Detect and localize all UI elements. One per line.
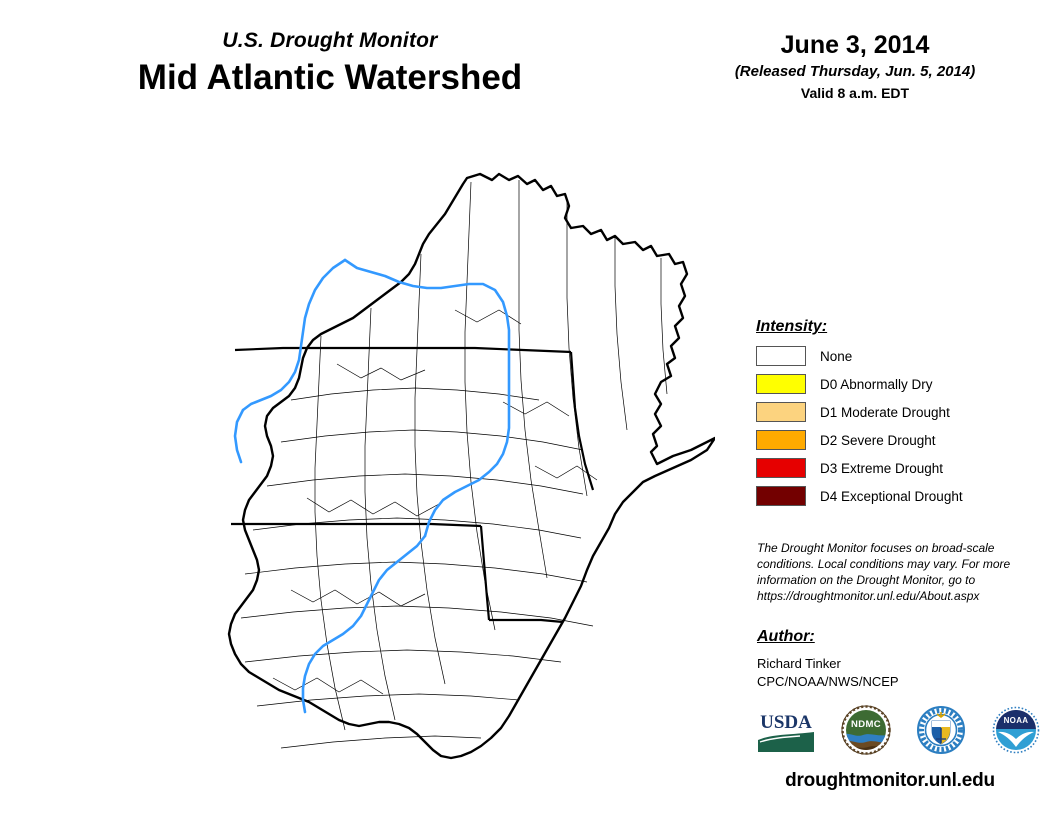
legend-swatch-d3 bbox=[756, 458, 806, 478]
date-block: June 3, 2014 (Released Thursday, Jun. 5,… bbox=[690, 30, 1020, 103]
svg-text:NDMC: NDMC bbox=[851, 719, 881, 730]
author-name: Richard Tinker bbox=[757, 655, 1042, 673]
legend-title: Intensity: bbox=[756, 318, 1036, 336]
noaa-logo: NOAA bbox=[991, 705, 1041, 760]
site-url: droughtmonitor.unl.edu bbox=[740, 770, 1040, 792]
legend-swatch-d1 bbox=[756, 402, 806, 422]
legend-item-d4: D4 Exceptional Drought bbox=[756, 484, 1036, 508]
drought-monitor-page: U.S. Drought Monitor Mid Atlantic Waters… bbox=[0, 0, 1056, 816]
svg-text:NOAA: NOAA bbox=[1004, 716, 1029, 725]
legend-item-none: None bbox=[756, 344, 1036, 368]
author-block: Author: Richard Tinker CPC/NOAA/NWS/NCEP bbox=[757, 628, 1042, 691]
legend-label-d4: D4 Exceptional Drought bbox=[820, 489, 963, 504]
ndmc-logo: NDMC bbox=[841, 705, 891, 760]
page-title: Mid Atlantic Watershed bbox=[0, 56, 660, 100]
map-land-layer bbox=[229, 174, 715, 758]
svg-text:USDA: USDA bbox=[760, 712, 812, 733]
legend-label-d0: D0 Abnormally Dry bbox=[820, 377, 933, 392]
valid-time: Valid 8 a.m. EDT bbox=[690, 84, 1020, 103]
author-affiliation: CPC/NOAA/NWS/NCEP bbox=[757, 673, 1042, 691]
legend-swatch-d0 bbox=[756, 374, 806, 394]
drought-map bbox=[95, 150, 715, 790]
intensity-legend: Intensity: None D0 Abnormally Dry D1 Mod… bbox=[756, 318, 1036, 512]
legend-swatch-none bbox=[756, 346, 806, 366]
legend-swatch-d2 bbox=[756, 430, 806, 450]
map-date: June 3, 2014 bbox=[690, 30, 1020, 60]
legend-label-d3: D3 Extreme Drought bbox=[820, 461, 943, 476]
usda-logo: USDA bbox=[756, 706, 816, 759]
author-heading: Author: bbox=[757, 628, 1042, 646]
disclaimer-text: The Drought Monitor focuses on broad-sca… bbox=[757, 540, 1042, 604]
release-date: (Released Thursday, Jun. 5, 2014) bbox=[690, 62, 1020, 82]
logo-row: USDA NDMC bbox=[756, 704, 1041, 760]
title-block: U.S. Drought Monitor Mid Atlantic Waters… bbox=[0, 28, 660, 100]
legend-label-d2: D2 Severe Drought bbox=[820, 433, 936, 448]
legend-swatch-d4 bbox=[756, 486, 806, 506]
legend-item-d0: D0 Abnormally Dry bbox=[756, 372, 1036, 396]
unl-seal-logo bbox=[916, 705, 966, 760]
legend-item-d3: D3 Extreme Drought bbox=[756, 456, 1036, 480]
legend-item-d2: D2 Severe Drought bbox=[756, 428, 1036, 452]
map-svg bbox=[95, 150, 715, 790]
watershed-outline bbox=[229, 174, 715, 758]
legend-item-d1: D1 Moderate Drought bbox=[756, 400, 1036, 424]
page-supertitle: U.S. Drought Monitor bbox=[0, 28, 660, 54]
legend-label-none: None bbox=[820, 349, 852, 364]
legend-label-d1: D1 Moderate Drought bbox=[820, 405, 950, 420]
